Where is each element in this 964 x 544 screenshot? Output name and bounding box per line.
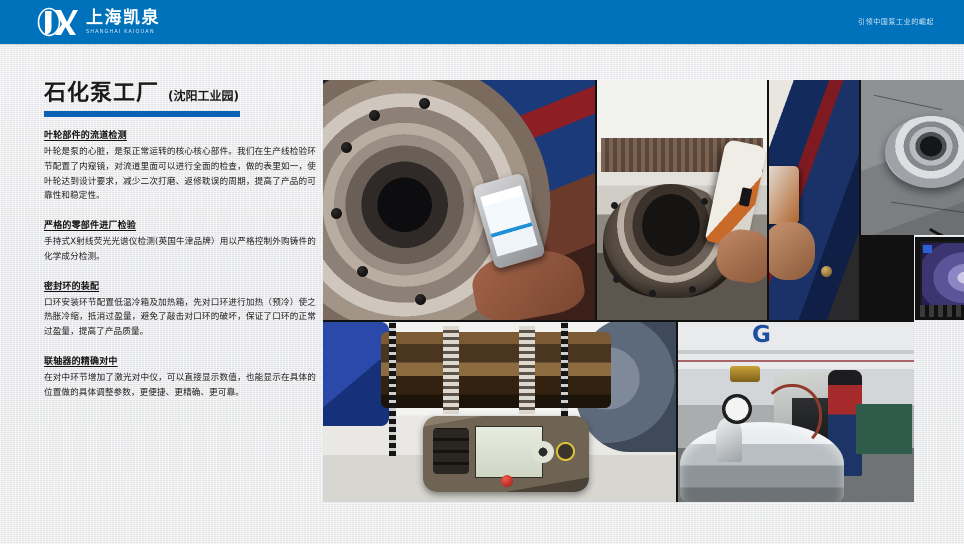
flange-bolt-icon [341, 142, 352, 153]
drive-motor [323, 322, 389, 426]
tool-display-screen [475, 426, 543, 478]
vessel-neck [716, 418, 742, 462]
kaiquan-logo-icon [36, 7, 78, 37]
laser-alignment-tool [423, 416, 589, 492]
brand-logo[interactable]: 上海凯泉 SHANGHAI KAIQUAN [36, 7, 160, 37]
photo-worker-with-analyser [769, 80, 859, 320]
photo-collage: 2015/09/0 G [323, 80, 914, 502]
flange-bolt-icon [331, 208, 342, 219]
monitor-keypad [920, 305, 964, 317]
photo-pump-casing-flange-tester [323, 80, 595, 320]
alignment-crosshair-icon [532, 441, 554, 463]
page-header: 上海凯泉 SHANGHAI KAIQUAN 引领中国泵工业的崛起 [0, 0, 964, 44]
workbench-panel [856, 404, 912, 454]
flange-bolt-icon [419, 98, 430, 109]
measuring-chain [389, 322, 396, 456]
section-body: 手持式X射线荧光光谱仪检测(英国牛津品牌）用以严格控制外购铸件的化学成分检测。 [44, 235, 316, 265]
section-heading: 叶轮部件的流道检测 [44, 128, 316, 141]
screen-status-indicator [923, 245, 932, 253]
pressure-hose [762, 384, 822, 448]
photo-laser-shaft-alignment [323, 322, 676, 502]
coupling-flange [443, 326, 459, 414]
photo-impeller-borescope [861, 80, 964, 235]
section-body: 在对中环节增加了激光对中仪，可以直接显示数值，也能显示在具体的位置做的具体调整参… [44, 371, 316, 401]
power-button[interactable] [501, 475, 513, 487]
slide-canvas: 上海凯泉 SHANGHAI KAIQUAN 引领中国泵工业的崛起 石化泵工厂 (… [0, 0, 964, 544]
section-coupling-alignment: 联轴器的精确对中 在对中环节增加了激光对中仪，可以直接显示数值，也能显示在具体的… [44, 354, 316, 401]
photo-casing-xrf-inspection [597, 80, 767, 320]
section-body: 口环安装环节配置低温冷箱及加热箱，先对口环进行加热（预冷）使之热胀冷缩，抵消过盈… [44, 296, 316, 340]
content-text-column: 叶轮部件的流道检测 叶轮是泵的心脏，是泵正常运转的核心核心部件。我们在生产线检验… [44, 128, 316, 415]
photo-workshop-pressure-test: G [678, 322, 914, 502]
flange-bolt-icon [689, 286, 696, 293]
title-main-text: 石化泵工厂 [44, 82, 159, 106]
section-body: 叶轮是泵的心脏，是泵正常运转的核心核心部件。我们在生产线检验环节配置了内窥镜，对… [44, 145, 316, 204]
xrf-analyser-device [769, 166, 799, 224]
section-seal-ring-assembly: 密封环的装配 口环安装环节配置低温冷箱及加热箱，先对口环进行加热（预冷）使之热胀… [44, 279, 316, 340]
flange-bolt-icon [369, 110, 380, 121]
pressure-vessel [680, 422, 844, 502]
brass-valve [730, 366, 760, 382]
pressure-gauge-icon [722, 394, 752, 424]
analyser-display [739, 187, 753, 207]
worker-hand [769, 222, 815, 280]
tester-screen [480, 185, 537, 256]
title-sub-text: (沈阳工业园) [168, 87, 239, 104]
header-tagline: 引领中国泵工业的崛起 [858, 0, 934, 44]
section-heading: 严格的零部件进厂检验 [44, 218, 316, 231]
photo-borescope-monitor [915, 237, 964, 320]
coupling-shaft [381, 332, 611, 408]
tool-numeric-keypad[interactable] [433, 428, 469, 474]
ceiling-beam [678, 350, 914, 354]
flange-bolt-icon [415, 294, 426, 305]
flange-bolt-icon [357, 266, 368, 277]
ok-button[interactable] [556, 442, 575, 461]
flange-bolt-icon [611, 202, 618, 209]
zone-sign-letter: G [752, 324, 771, 347]
logo-chinese-name: 上海凯泉 [86, 10, 160, 27]
flange-bolt-icon [613, 276, 620, 283]
title-underline-rule [44, 111, 240, 117]
page-title: 石化泵工厂 (沈阳工业园) [44, 82, 310, 117]
section-incoming-part-inspection: 严格的零部件进厂检验 手持式X射线荧光光谱仪检测(英国牛津品牌）用以严格控制外购… [44, 218, 316, 265]
flange-bolt-icon [701, 198, 708, 205]
logo-text-block: 上海凯泉 SHANGHAI KAIQUAN [86, 10, 160, 35]
coupling-flange [519, 326, 535, 414]
section-impeller-flow-inspection: 叶轮部件的流道检测 叶轮是泵的心脏，是泵正常运转的核心核心部件。我们在生产线检验… [44, 128, 316, 204]
title-row: 石化泵工厂 (沈阳工业园) [44, 82, 310, 106]
ceiling-pipe [678, 360, 914, 362]
uniform-button-icon [821, 266, 832, 277]
section-heading: 联轴器的精确对中 [44, 354, 316, 367]
section-heading: 密封环的装配 [44, 279, 316, 292]
flange-bolt-icon [649, 290, 656, 297]
logo-english-name: SHANGHAI KAIQUAN [86, 30, 160, 35]
